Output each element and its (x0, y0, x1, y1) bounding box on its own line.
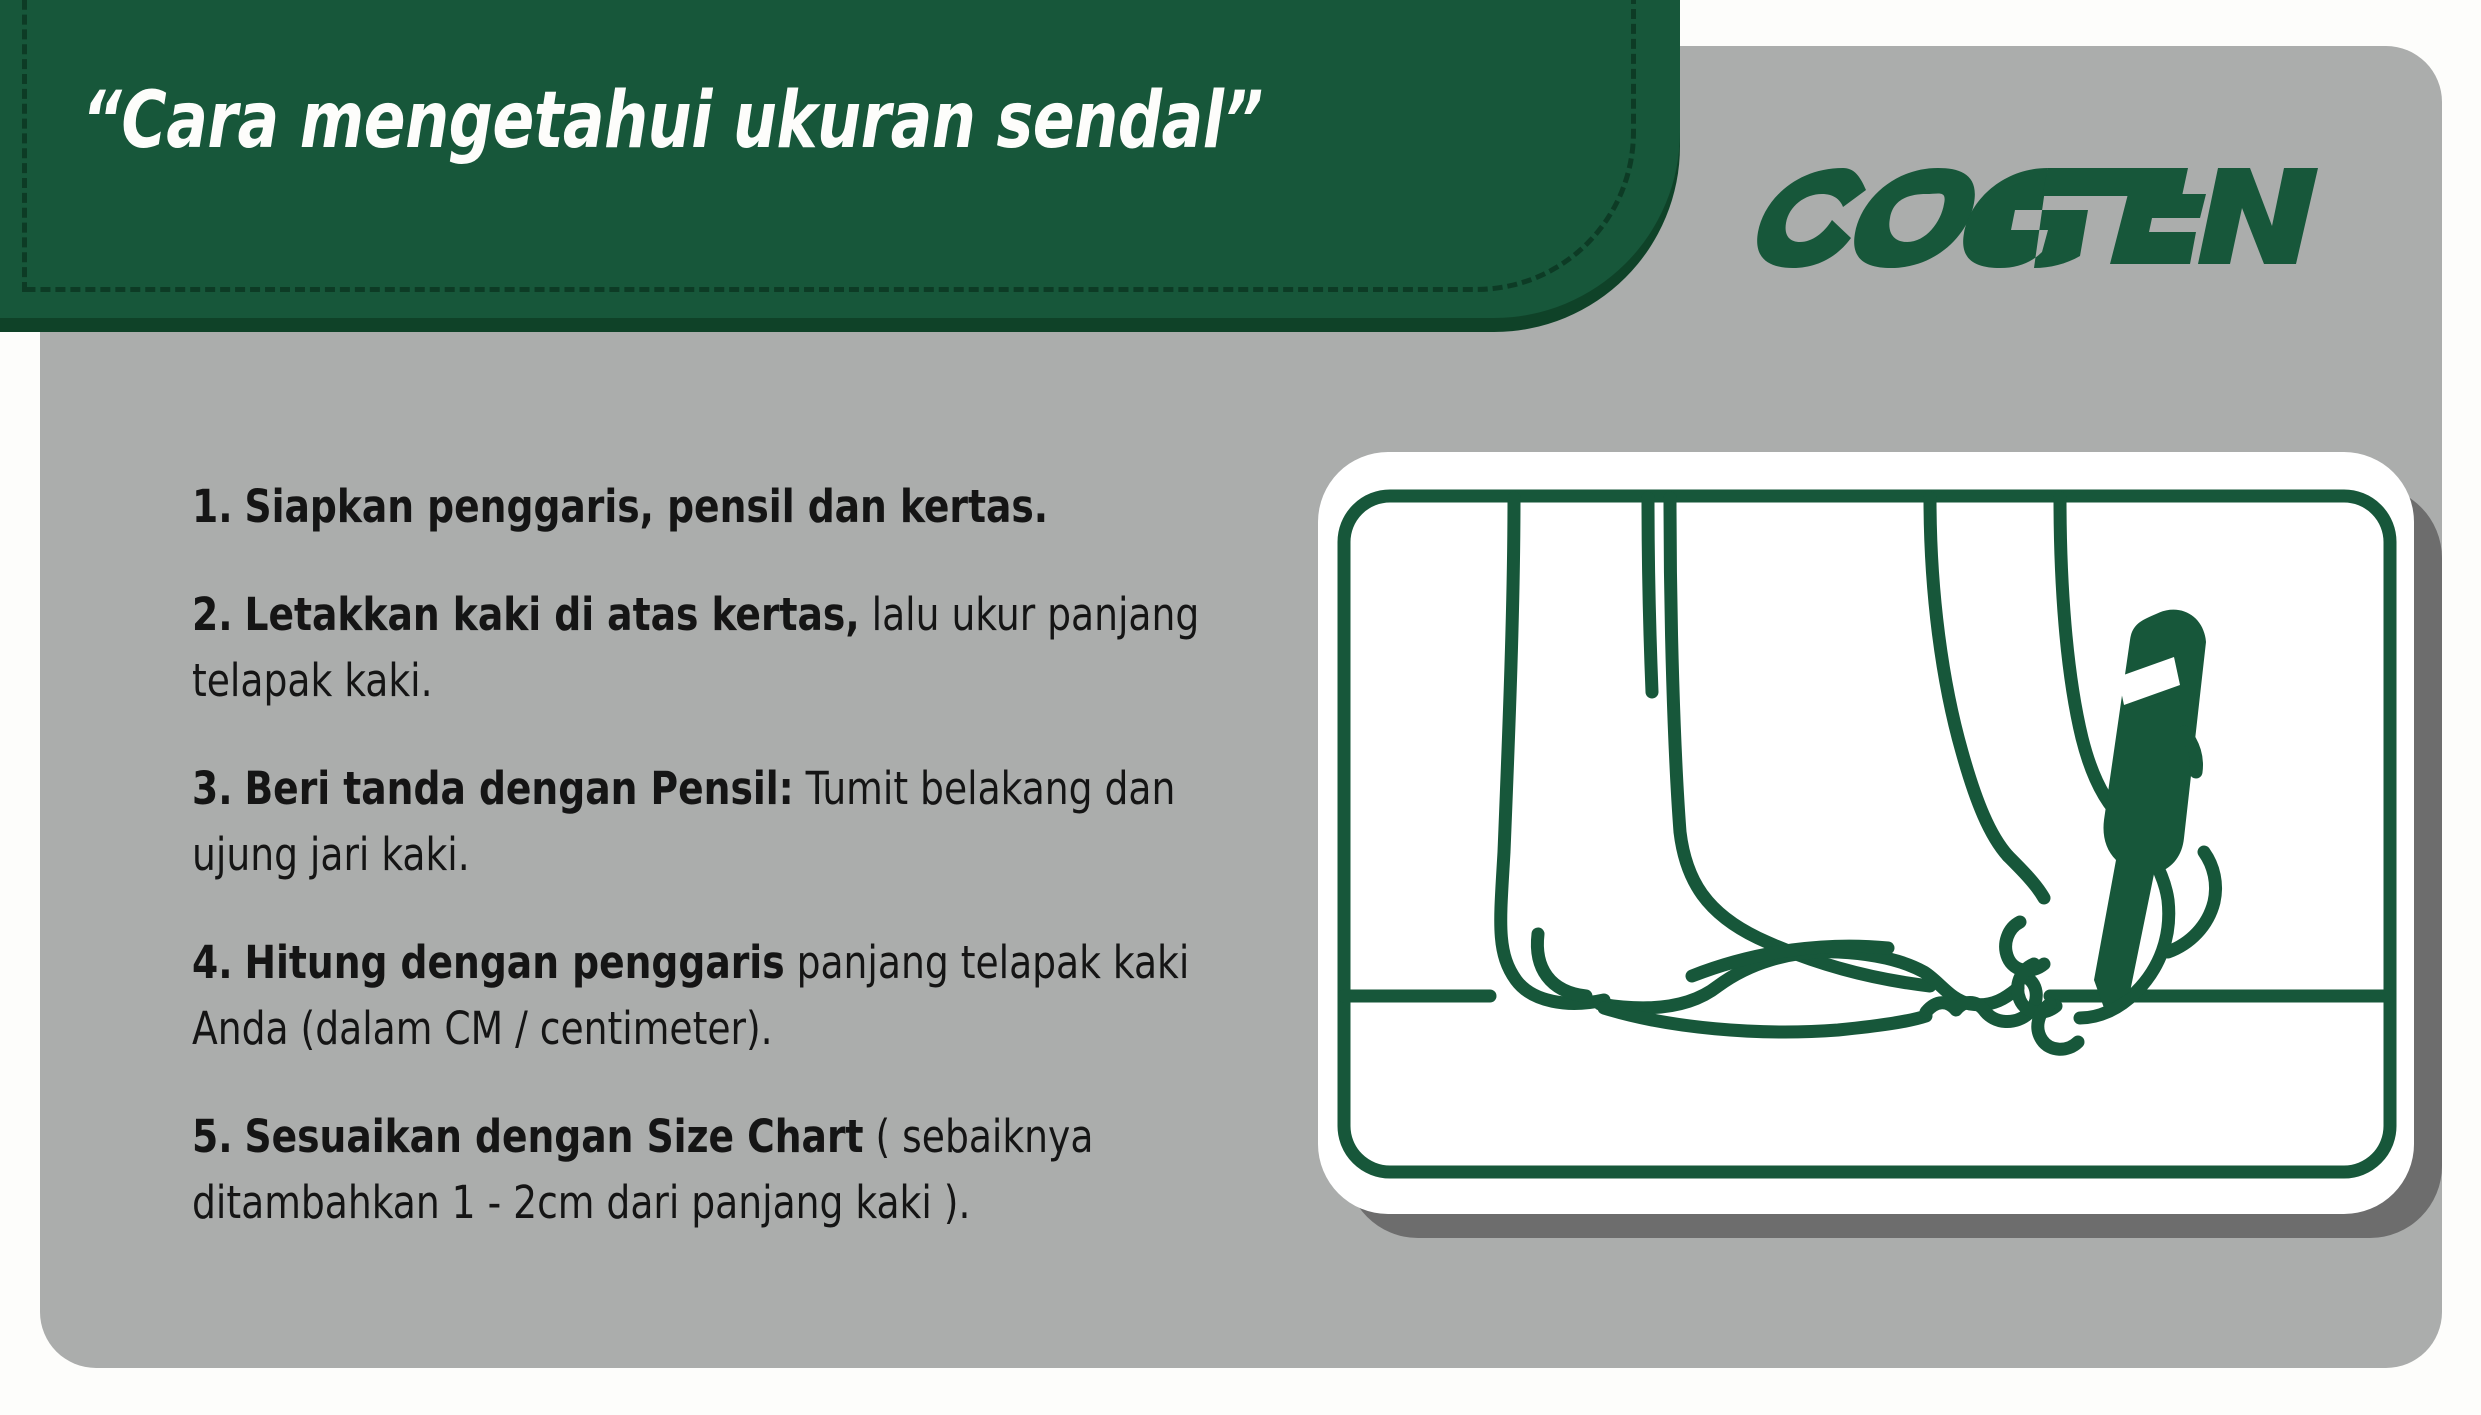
list-item: 5. Sesuaikan dengan Size Chart ( sebaikn… (192, 1104, 1206, 1236)
step-number: 3. (192, 762, 233, 815)
middle-finger (2168, 852, 2216, 952)
title-banner: “Cara mengetahui ukuran sendal” (0, 0, 1700, 340)
step-bold-text: Sesuaikan dengan Size Chart (244, 1110, 863, 1163)
step-bold-text: Letakkan kaki di atas kertas, (244, 588, 859, 641)
step-number: 1. (192, 480, 233, 533)
shin-front-contour (1670, 498, 1930, 986)
step-number: 2. (192, 588, 233, 641)
list-item: 4. Hitung dengan penggaris panjang telap… (192, 930, 1206, 1062)
list-item: 1. Siapkan penggaris, pensil dan kertas. (192, 474, 1206, 540)
cogen-logo (1748, 160, 2348, 270)
list-item: 2. Letakkan kaki di atas kertas, lalu uk… (192, 582, 1206, 714)
forearm-left-contour (1930, 498, 2008, 856)
leg-back-contour (1501, 498, 1604, 1003)
list-item: 3. Beri tanda dengan Pensil: Tumit belak… (192, 756, 1206, 888)
heel-inner-curve (1537, 934, 1586, 996)
steps-list: 1. Siapkan penggaris, pensil dan kertas.… (192, 474, 1282, 1236)
page-title: “Cara mengetahui ukuran sendal” (82, 76, 1263, 166)
step-bold-text: Beri tanda dengan Pensil: (244, 762, 793, 815)
shin-crease (1648, 498, 1652, 692)
step-number: 4. (192, 936, 233, 989)
step-bold-text: Hitung dengan penggaris (244, 936, 784, 989)
step-number: 5. (192, 1110, 233, 1163)
illustration-card (1318, 452, 2414, 1214)
thumb (2008, 856, 2044, 898)
foot-measuring-illustration (1318, 452, 2414, 1214)
step-bold-text: Siapkan penggaris, pensil dan kertas. (244, 480, 1048, 533)
banner-surface: “Cara mengetahui ukuran sendal” (0, 0, 1680, 318)
